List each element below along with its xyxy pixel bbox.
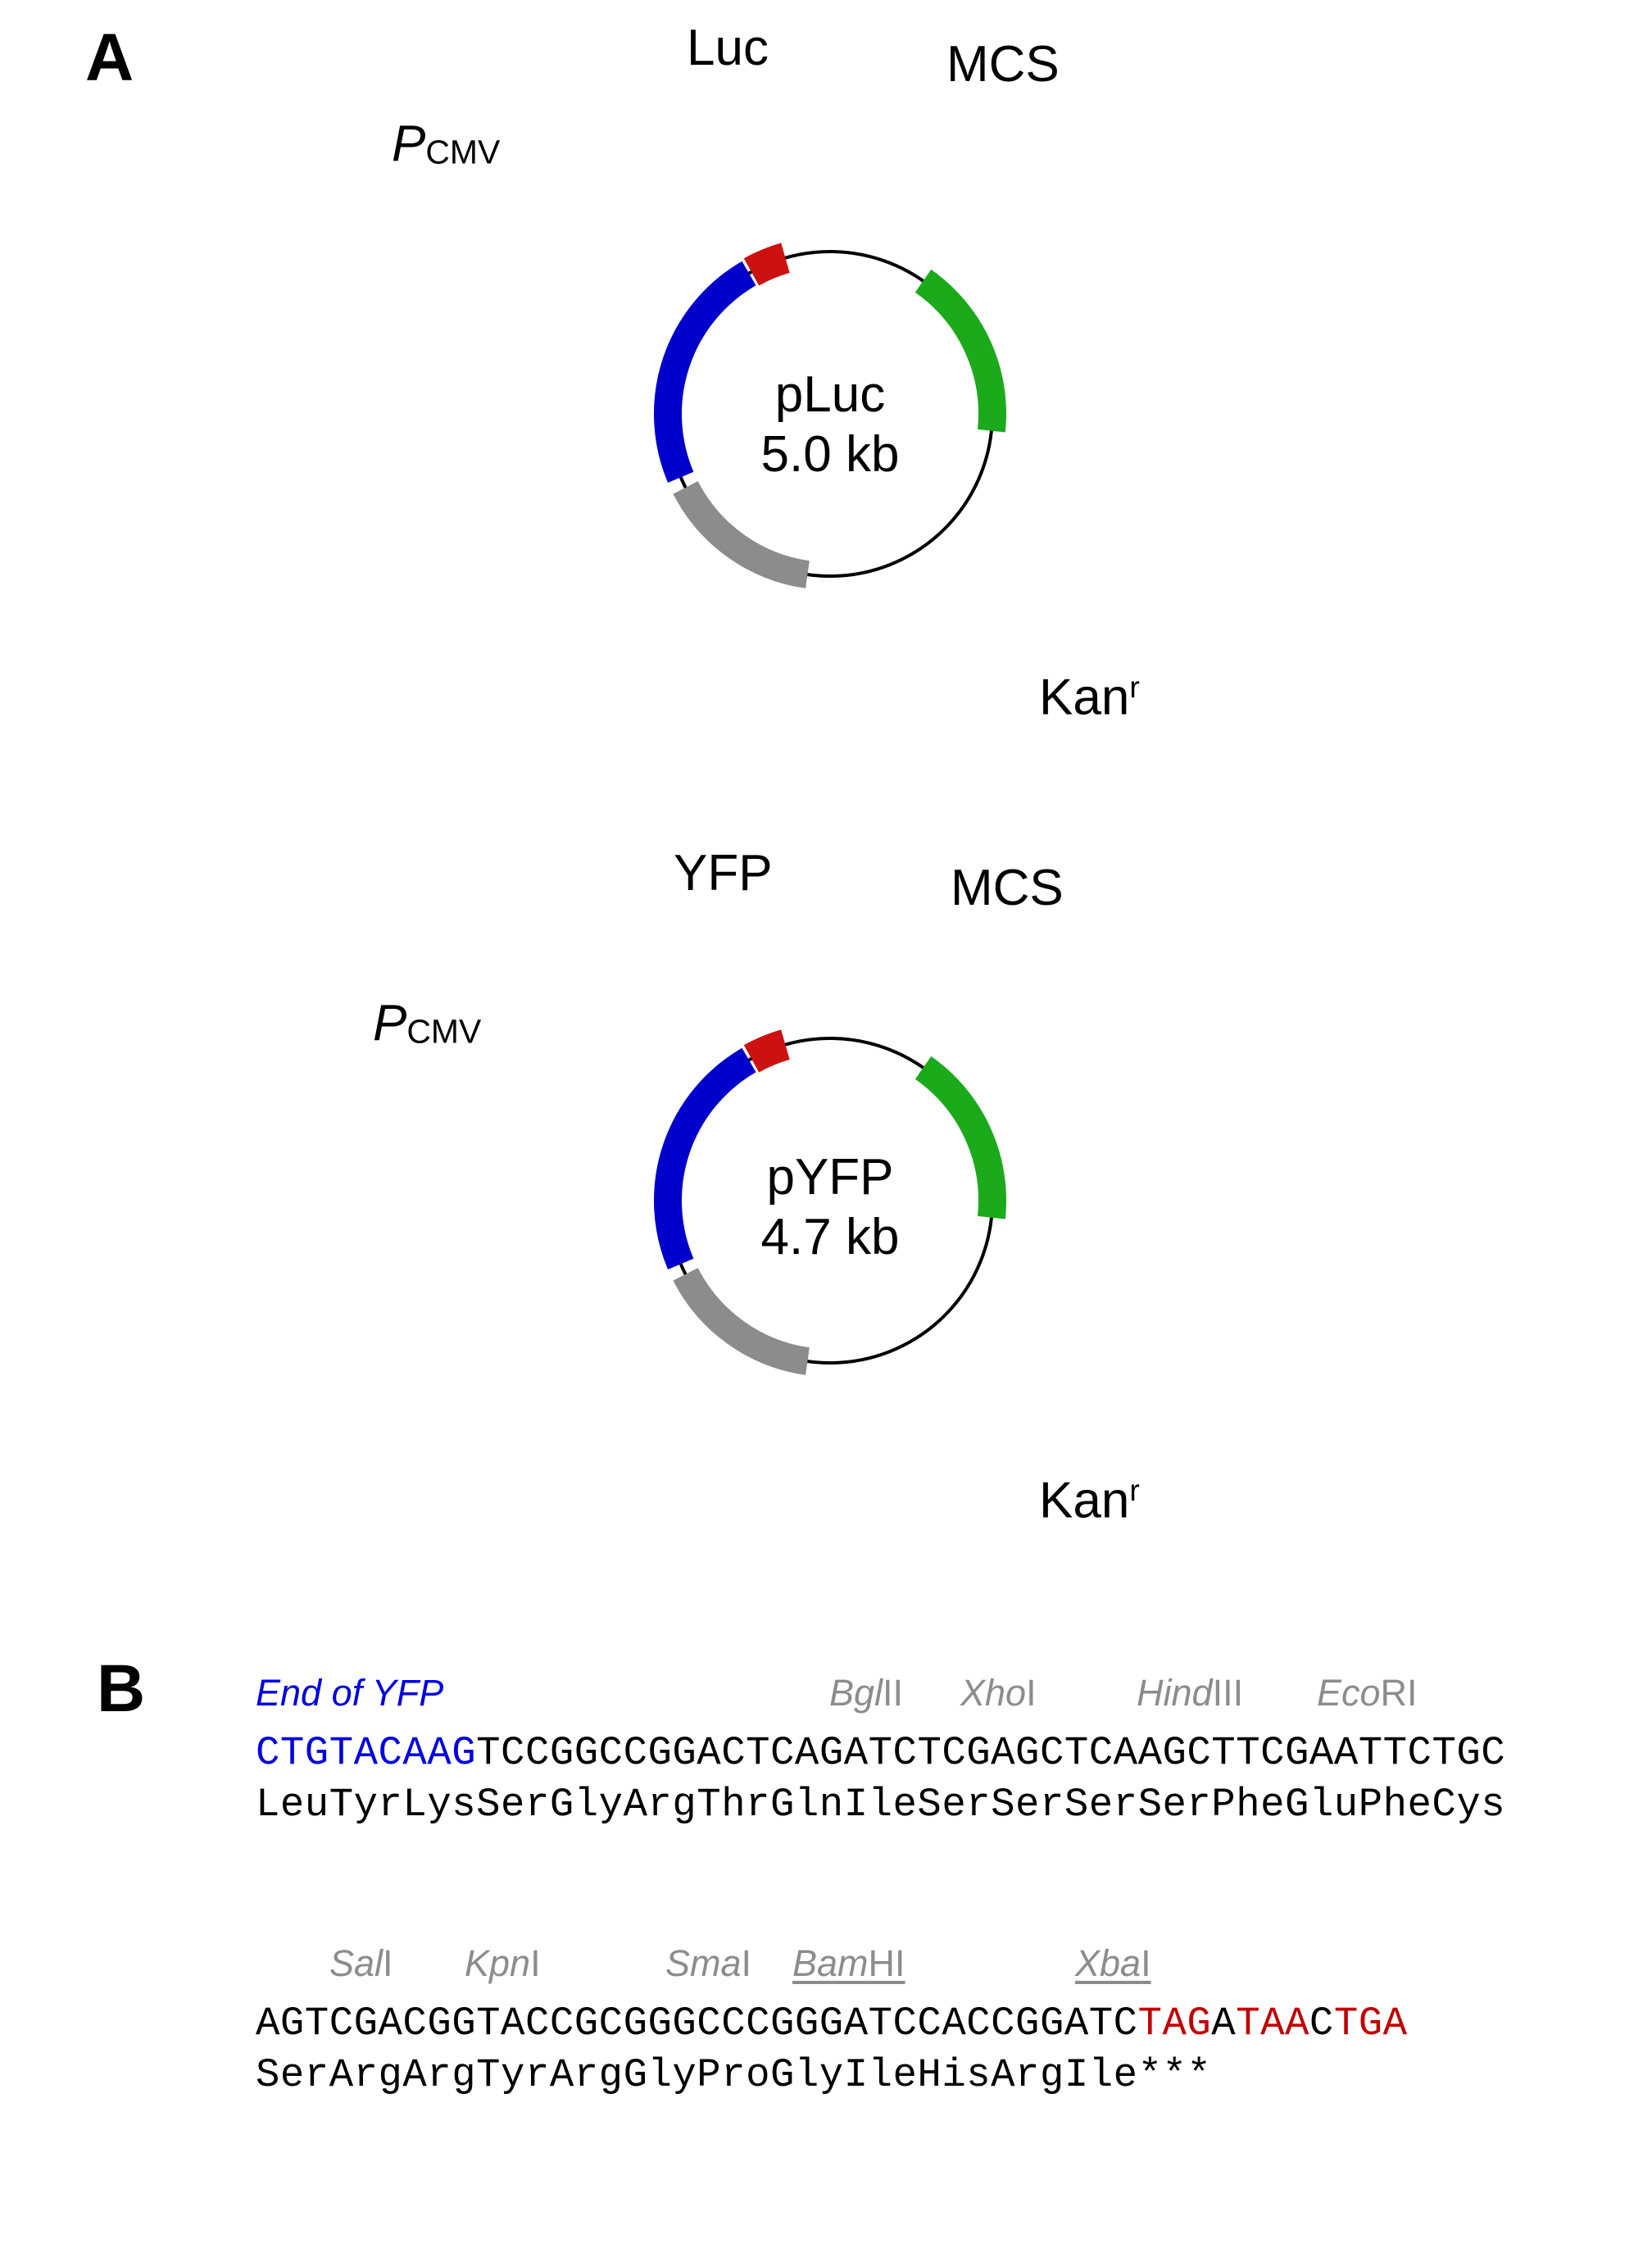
- nucleotide-line-1: CTGTACAAGTCCGGCCGGACTCAGATCTCGAGCTCAAGCT…: [256, 1728, 1600, 1779]
- enzyme-kpni: KpnI: [465, 1942, 541, 1985]
- enzyme-name: Kpn: [465, 1942, 530, 1984]
- promoter-arc: [686, 1274, 808, 1361]
- enzyme-numeral: I: [742, 1942, 752, 1984]
- marker-superscript: r: [1129, 1473, 1139, 1507]
- mcs-label-pluc: MCS: [946, 39, 1060, 90]
- nt-segment-0: AGTCGACGGTACCGCGGGCCCGGGATCCACCGGATC: [256, 2000, 1138, 2046]
- plasmid-name-pyfp: pYFP: [666, 1147, 994, 1207]
- nt-segment-5: TGA: [1334, 2000, 1408, 2046]
- mcs-arc: [751, 1045, 785, 1059]
- enzyme-name: Bgl: [829, 1672, 883, 1714]
- enzyme-row-2: SalI KpnI SmaI BamHI XbaI: [256, 1942, 1600, 1990]
- nt-black-segment: TCCGGCCGGACTCAGATCTCGAGCTCAAGCTTCGAATTCT…: [476, 1730, 1505, 1776]
- enzyme-numeral: I: [530, 1942, 541, 1984]
- mcs-label-pyfp: MCS: [951, 863, 1064, 914]
- promoter-label-pyfp: PCMV: [373, 998, 481, 1049]
- enzyme-name: Sal: [329, 1942, 383, 1984]
- aminoacid-line-1: LeuTyrLysSerGlyArgThrGlnIleSerSerSerSerP…: [256, 1779, 1600, 1831]
- plasmid-size-pluc: 5.0 kb: [666, 425, 994, 484]
- enzyme-numeral: III: [1213, 1672, 1244, 1714]
- enzyme-numeral: I: [383, 1942, 393, 1984]
- enzyme-row-1: End of YFP BglII XhoI HindIII EcoRI: [256, 1672, 1600, 1719]
- nt-segment-2: A: [1211, 2000, 1236, 2046]
- promoter-subscript: CMV: [425, 133, 500, 170]
- promoter-label-pluc: PCMV: [392, 119, 500, 170]
- promoter-prefix: P: [392, 116, 425, 172]
- enzyme-name: Xba: [1075, 1942, 1141, 1984]
- enzyme-numeral: RI: [1381, 1672, 1418, 1714]
- nt-blue-segment: CTGTACAAG: [256, 1730, 476, 1776]
- sequence-block-2: SalI KpnI SmaI BamHI XbaI AGTCGACGGTACCG…: [256, 1942, 1600, 2100]
- promoter-prefix: P: [373, 995, 406, 1051]
- enzyme-bamhi: BamHI: [792, 1942, 905, 1985]
- plasmid-size-pyfp: 4.7 kb: [666, 1207, 994, 1267]
- enzyme-bglii: BglII: [829, 1672, 903, 1714]
- enzyme-xbai: XbaI: [1075, 1942, 1151, 1985]
- enzyme-name: Bam: [792, 1942, 869, 1984]
- promoter-arc: [686, 488, 808, 574]
- nt-segment-4: C: [1309, 2000, 1334, 2046]
- gene-label-luc: Luc: [687, 23, 769, 74]
- enzyme-numeral: HI: [869, 1942, 905, 1984]
- nt-segment-3: TAA: [1236, 2000, 1309, 2046]
- plasmid-center-pluc: pLuc 5.0 kb: [666, 365, 994, 484]
- marker-label-pyfp: Kanr: [1039, 1475, 1140, 1526]
- nucleotide-line-2: AGTCGACGGTACCGCGGGCCCGGGATCCACCGGATCTAGA…: [256, 1998, 1600, 2050]
- plasmid-center-pyfp: pYFP 4.7 kb: [666, 1147, 994, 1267]
- enzyme-name: Hind: [1137, 1672, 1213, 1714]
- enzyme-smai: SmaI: [665, 1942, 751, 1985]
- enzyme-name: Xho: [960, 1672, 1026, 1714]
- enzyme-numeral: II: [883, 1672, 903, 1714]
- promoter-subscript: CMV: [406, 1012, 481, 1050]
- enzyme-name: Sma: [665, 1942, 742, 1984]
- enzyme-numeral: I: [1141, 1942, 1151, 1984]
- gene-label-yfp: YFP: [674, 848, 773, 899]
- enzyme-name: Eco: [1317, 1672, 1381, 1714]
- marker-name: Kan: [1039, 1472, 1129, 1528]
- enzyme-numeral: I: [1026, 1672, 1037, 1714]
- sequence-block-1: End of YFP BglII XhoI HindIII EcoRI CTGT…: [256, 1672, 1600, 1830]
- mcs-arc: [751, 258, 785, 272]
- end-of-yfp-label: End of YFP: [256, 1672, 443, 1714]
- enzyme-ecori: EcoRI: [1317, 1672, 1418, 1714]
- plasmid-name-pluc: pLuc: [666, 365, 994, 425]
- marker-label-pluc: Kanr: [1039, 672, 1140, 723]
- aminoacid-line-2: SerArgArgTyrArgGlyProGlyIleHisArgIle***: [256, 2050, 1600, 2101]
- enzyme-sali: SalI: [329, 1942, 393, 1985]
- marker-name: Kan: [1039, 669, 1129, 725]
- enzyme-hindiii: HindIII: [1137, 1672, 1243, 1714]
- marker-superscript: r: [1129, 670, 1139, 704]
- nt-segment-1: TAG: [1138, 2000, 1212, 2046]
- panel-b-label: B: [97, 1655, 145, 1723]
- enzyme-xhoi: XhoI: [960, 1672, 1037, 1714]
